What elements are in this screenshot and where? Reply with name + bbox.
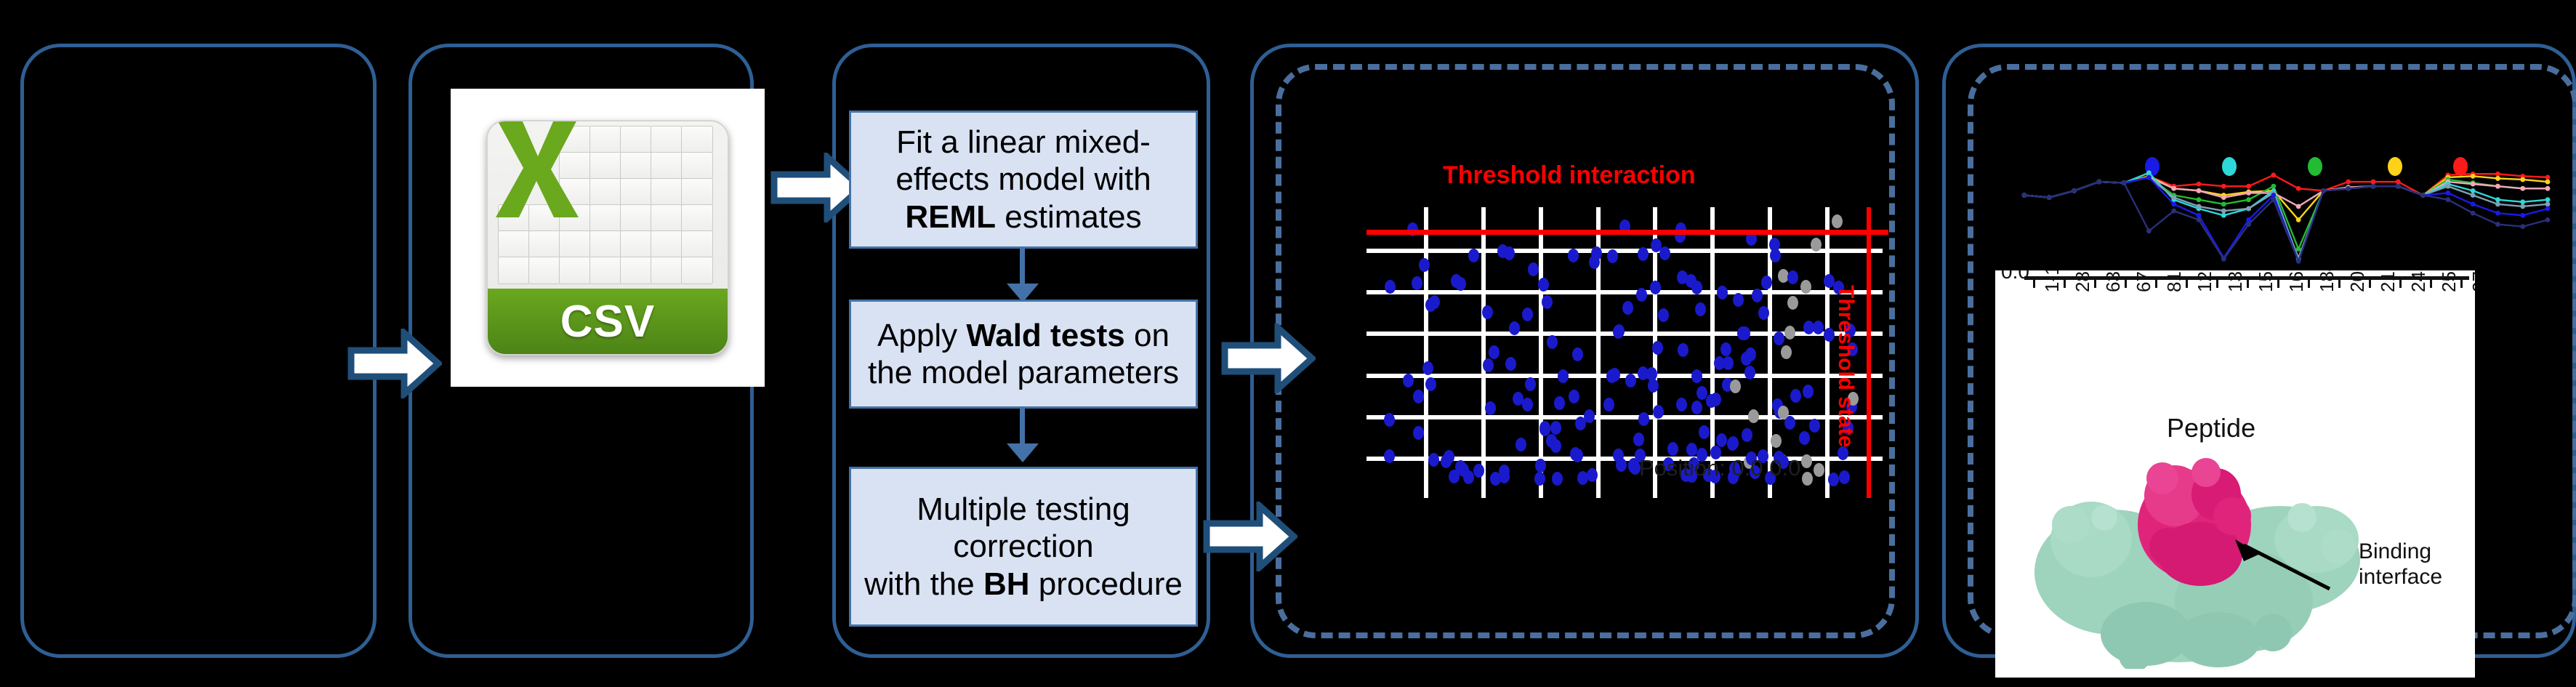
- peptide-series-marker: [2197, 204, 2202, 209]
- peptide-series-marker: [2471, 174, 2476, 179]
- bh-correction-box[interactable]: Multiple testing correction with the BH …: [849, 467, 1198, 627]
- peptide-series-marker: [2520, 186, 2525, 191]
- peptide-series-marker: [2545, 197, 2551, 202]
- scatter-point-significant: [1550, 421, 1561, 435]
- x-axis-tick: [2460, 276, 2463, 288]
- peptide-series-marker: [2171, 201, 2176, 206]
- scatter-point-significant: [1774, 332, 1784, 345]
- flow-arrow-1-icon: [347, 329, 442, 398]
- peptide-series-marker: [2246, 206, 2251, 212]
- scatter-point-significant: [1752, 289, 1763, 302]
- wald-line-2: the model parameters: [868, 354, 1179, 391]
- scatter-point-significant: [1558, 369, 1569, 383]
- scatter-point-nonsignificant: [1784, 326, 1795, 340]
- x-axis-tick: [2125, 276, 2127, 288]
- csv-grid-cell: [589, 178, 621, 206]
- csv-grid-cell: [651, 152, 683, 180]
- peptide-series-marker: [2146, 174, 2152, 180]
- x-axis-tick-label: 241-257: [2407, 270, 2430, 292]
- peptide-series-marker: [2545, 201, 2551, 206]
- x-axis-tick-label: 258-266: [2438, 270, 2460, 292]
- csv-grid-cell: [528, 257, 560, 284]
- scatter-point-nonsignificant: [1801, 454, 1812, 468]
- peptide-series-marker: [2296, 217, 2301, 222]
- scatter-point-significant: [1473, 464, 1484, 478]
- peptide-series-marker: [2495, 211, 2500, 216]
- scatter-point-nonsignificant: [1832, 214, 1843, 228]
- peptide-series-marker: [2545, 186, 2551, 191]
- scatter-point-nonsignificant: [1748, 409, 1759, 423]
- csv-grid-cell: [559, 257, 591, 284]
- scatter-point-significant: [1625, 374, 1636, 387]
- fit-model-text: Fit a linear mixed- effects model with R…: [895, 124, 1151, 235]
- scatter-point-significant: [1727, 437, 1738, 451]
- scatter-point-significant: [1504, 246, 1515, 260]
- peptide-series-marker: [2171, 195, 2176, 200]
- scatter-position-readout: Position: 0.0 0.0: [1639, 455, 1800, 481]
- scatter-point-significant: [1720, 342, 1731, 356]
- x-axis-tick-label: 277-284: [2468, 270, 2475, 292]
- x-axis-tick: [2064, 276, 2066, 288]
- flow-arrow-3-icon: [1203, 502, 1297, 571]
- peptide-series-marker: [2122, 180, 2127, 185]
- scatter-point-significant: [1528, 262, 1539, 276]
- csv-grid-cell: [651, 204, 683, 232]
- peptide-series-marker: [2396, 184, 2401, 189]
- threshold-interaction-label: Threshold interaction: [1443, 161, 1696, 190]
- workflow-diagram: CSV Fit a linear mixed- effects model wi…: [0, 0, 2576, 687]
- peptide-series-marker: [2072, 188, 2077, 193]
- scatter-point-significant: [1483, 358, 1494, 372]
- scatter-point-significant: [1591, 246, 1602, 260]
- peptide-series-marker: [2296, 259, 2301, 264]
- scatter-point-significant: [1384, 449, 1395, 463]
- bh-line-2: correction: [864, 528, 1183, 565]
- peptide-series-marker: [2495, 184, 2500, 189]
- scatter-point-significant: [1652, 341, 1663, 355]
- peptide-series-marker: [2520, 199, 2525, 204]
- peptide-series-marker: [2520, 213, 2525, 218]
- scatter-point-significant: [1499, 465, 1510, 478]
- x-axis-tick-label: 81-101: [2163, 270, 2186, 292]
- csv-grid-cell: [681, 178, 713, 206]
- scatter-point-significant: [1505, 357, 1516, 371]
- fit-model-line-2: effects model with: [895, 161, 1151, 198]
- csv-grid-cell: [620, 126, 652, 153]
- peptide-series-marker: [2445, 184, 2450, 189]
- excel-x-glyph: [492, 120, 581, 219]
- peptide-series-marker: [2047, 195, 2052, 200]
- scatter-point-significant: [1547, 335, 1558, 349]
- x-axis-tick-label: 122-129: [2194, 270, 2216, 292]
- scatter-point-significant: [1613, 325, 1624, 339]
- scatter-point-significant: [1809, 419, 1820, 433]
- csv-grid-cell: [620, 257, 652, 284]
- csv-grid-cell: [651, 178, 683, 206]
- scatter-point-significant: [1554, 396, 1565, 410]
- csv-grid-cell: [651, 126, 683, 153]
- flow-arrow-4-icon: [1221, 324, 1316, 393]
- scatter-point-significant: [1429, 295, 1440, 309]
- scatter-point-significant: [1384, 413, 1395, 427]
- peptide-series-marker: [2271, 197, 2276, 202]
- x-axis-tick: [2399, 276, 2402, 288]
- x-axis-tick: [2430, 276, 2432, 288]
- peptide-series-marker: [2520, 177, 2525, 182]
- scatter-point-nonsignificant: [1802, 472, 1813, 486]
- peptide-series-marker: [2197, 188, 2202, 193]
- peptide-series-marker: [2371, 184, 2376, 189]
- peptide-series-marker: [2346, 180, 2351, 185]
- protein-surface-structure: [2026, 438, 2367, 669]
- peptide-series-marker: [2495, 197, 2500, 202]
- csv-label: CSV: [560, 296, 655, 347]
- peptide-series-marker: [2246, 197, 2251, 202]
- x-axis-tick: [2216, 276, 2218, 288]
- scatter-point-significant: [1525, 377, 1536, 391]
- scatter-point-significant: [1803, 385, 1814, 398]
- x-axis-tick-label: 200-214: [2346, 270, 2369, 292]
- flow-connector-1: [1020, 249, 1025, 286]
- csv-grid-cell: [620, 178, 652, 206]
- scatter-point-nonsignificant: [1771, 434, 1782, 448]
- scatter-point-significant: [1609, 368, 1620, 382]
- scatter-point-significant: [1538, 278, 1549, 292]
- x-axis-tick-label: 67-75: [2133, 270, 2155, 292]
- scatter-point-nonsignificant: [1787, 296, 1798, 310]
- fit-model-box[interactable]: Fit a linear mixed- effects model with R…: [849, 111, 1198, 249]
- scatter-point-significant: [1622, 301, 1633, 315]
- peptide-series-marker: [2520, 224, 2525, 229]
- bh-prefix: with the: [864, 566, 983, 602]
- x-axis-tick-label: 1-15: [2041, 270, 2064, 292]
- peptide-series-marker: [2171, 209, 2176, 214]
- x-axis-tick-label: 63-73: [2102, 270, 2125, 292]
- scatter-point-significant: [1799, 431, 1810, 445]
- peptide-series-marker: [2197, 213, 2202, 218]
- peptide-series-series-green: [2024, 177, 2548, 249]
- wald-keyword: Wald tests: [966, 318, 1124, 353]
- csv-label-band: CSV: [488, 289, 728, 354]
- scatter-point-significant: [1653, 405, 1664, 419]
- scatter-point-significant: [1790, 389, 1801, 403]
- scatter-point-significant: [1717, 286, 1728, 300]
- wald-line-1: Apply Wald tests on: [868, 317, 1179, 354]
- csv-grid-cell: [589, 126, 621, 153]
- binding-line-1: Binding: [2359, 539, 2442, 565]
- csv-grid-cell: [681, 230, 713, 258]
- scatter-point-significant: [1419, 258, 1430, 272]
- fit-model-line-3: REML estimates: [895, 198, 1151, 236]
- peptide-series-marker: [2022, 193, 2027, 198]
- scatter-point-significant: [1568, 249, 1579, 262]
- input-panel: [20, 44, 377, 658]
- scatter-point-significant: [1737, 326, 1748, 340]
- scatter-point-significant: [1489, 345, 1500, 359]
- scatter-point-significant: [1828, 473, 1839, 486]
- wald-tests-text: Apply Wald tests on the model parameters: [868, 317, 1179, 391]
- scatter-point-significant: [1651, 238, 1662, 252]
- x-axis-tick: [2155, 276, 2157, 288]
- scatter-point-significant: [1584, 409, 1595, 423]
- flow-connector-2: [1020, 409, 1025, 446]
- peptide-series-marker: [2296, 186, 2301, 191]
- peptide-series-marker: [2146, 228, 2152, 233]
- bh-keyword: BH: [983, 566, 1030, 602]
- scatter-point-significant: [1676, 398, 1687, 411]
- csv-grid-cell: [620, 204, 652, 232]
- scatter-point-significant: [1569, 390, 1579, 403]
- csv-grid-cell: [589, 152, 621, 180]
- scatter-gridline-horizontal: [1367, 249, 1883, 253]
- csv-grid-cell: [620, 152, 652, 180]
- x-axis-tick: [2338, 276, 2340, 288]
- scatter-point-significant: [1468, 249, 1479, 262]
- wald-suffix: on: [1125, 318, 1170, 353]
- scatter-point-significant: [1577, 471, 1588, 485]
- peptide-series-marker: [2321, 188, 2326, 193]
- peptide-series-marker: [2271, 193, 2276, 198]
- x-axis-tick: [2277, 276, 2279, 288]
- x-axis-tick-label: 218-237: [2377, 270, 2399, 292]
- scatter-point-nonsignificant: [1778, 406, 1789, 419]
- peptide-series-marker: [2471, 188, 2476, 193]
- peptide-series-marker: [2221, 201, 2226, 206]
- scatter-point-significant: [1638, 412, 1649, 426]
- peptide-series-marker: [2221, 257, 2226, 262]
- peptide-series-marker: [2271, 172, 2276, 177]
- peptide-series-marker: [2471, 182, 2476, 187]
- csv-grid-cell: [681, 126, 713, 153]
- scatter-point-nonsignificant: [1814, 463, 1824, 477]
- peptide-series-marker: [2346, 186, 2351, 191]
- x-axis-tick: [2369, 276, 2371, 288]
- scatter-point-significant: [1451, 274, 1462, 288]
- peptide-series-marker: [2146, 170, 2152, 175]
- scatter-point-significant: [1425, 377, 1436, 391]
- x-axis-tick: [2033, 276, 2035, 288]
- peptide-series-marker: [2545, 174, 2551, 180]
- peptide-series-marker: [2445, 197, 2450, 202]
- peptide-series-marker: [2197, 197, 2202, 202]
- scatter-point-significant: [1534, 472, 1545, 486]
- peptide-series-marker: [2171, 186, 2176, 191]
- threshold-interaction-line: [1367, 230, 1888, 235]
- scatter-point-significant: [1613, 449, 1624, 462]
- peptide-series-marker: [2221, 213, 2226, 218]
- bh-line-3: with the BH procedure: [864, 566, 1183, 603]
- scatter-gridline-horizontal: [1367, 415, 1883, 419]
- scatter-point-significant: [1522, 308, 1533, 321]
- csv-grid-cell: [681, 204, 713, 232]
- csv-grid-cell: [681, 257, 713, 284]
- threshold-state-line: [1867, 207, 1871, 498]
- scatter-point-significant: [1650, 281, 1661, 294]
- csv-file-icon: CSV: [451, 89, 765, 387]
- scatter-point-significant: [1839, 470, 1850, 484]
- peptide-series-marker: [2246, 190, 2251, 196]
- scatter-point-significant: [1552, 472, 1563, 486]
- peptide-series-marker: [2221, 209, 2226, 214]
- scatter-point-significant: [1413, 426, 1424, 440]
- scatter-point-significant: [1603, 398, 1614, 411]
- peptide-series-marker: [2271, 184, 2276, 189]
- scatter-point-significant: [1658, 308, 1669, 322]
- scatter-point-significant: [1485, 401, 1496, 415]
- scatter-point-significant: [1633, 433, 1644, 446]
- scatter-point-significant: [1733, 293, 1744, 307]
- peptide-series-marker: [2197, 182, 2202, 187]
- scatter-point-significant: [1412, 276, 1422, 290]
- csv-grid-cell: [498, 230, 530, 258]
- scatter-point-significant: [1716, 433, 1727, 447]
- peptide-series-marker: [2471, 201, 2476, 206]
- volcano-scatter-plot: [1367, 207, 1883, 498]
- peptide-series-marker: [2296, 204, 2301, 209]
- wald-prefix: Apply: [877, 318, 966, 353]
- scatter-point-significant: [1803, 321, 1814, 334]
- scatter-point-significant: [1695, 302, 1706, 316]
- peptide-series-marker: [2495, 201, 2500, 206]
- peptide-series-marker: [2545, 206, 2551, 212]
- peptide-series-marker: [2471, 211, 2476, 216]
- binding-line-2: interface: [2359, 565, 2442, 590]
- peptide-series-marker: [2471, 193, 2476, 198]
- scatter-point-significant: [1428, 453, 1439, 467]
- x-axis-tick: [2094, 276, 2096, 288]
- csv-grid-cell: [589, 230, 621, 258]
- scatter-point-significant: [1667, 442, 1678, 456]
- scatter-point-significant: [1607, 249, 1618, 263]
- csv-grid-cell: [528, 230, 560, 258]
- scatter-point-significant: [1691, 369, 1702, 383]
- csv-grid-cell: [498, 257, 530, 284]
- peptide-series-marker: [2495, 222, 2500, 227]
- x-axis-tick-label: 135-144: [2224, 270, 2247, 292]
- peptide-series-marker: [2246, 222, 2251, 227]
- peptide-series-marker: [2221, 195, 2226, 200]
- binding-interface-annotation: Binding interface: [2359, 539, 2442, 590]
- peptide-series-marker: [2197, 217, 2202, 222]
- flow-arrowhead-2-icon: [1007, 443, 1039, 462]
- scatter-point-nonsignificant: [1730, 379, 1741, 393]
- peptide-series-marker: [2396, 180, 2401, 185]
- scatter-point-significant: [1787, 270, 1798, 284]
- scatter-point-significant: [1659, 246, 1670, 260]
- csv-grid-cell: [589, 204, 621, 232]
- csv-grid-cell: [589, 257, 621, 284]
- peptide-series-marker: [2445, 190, 2450, 196]
- peptide-series-marker: [2420, 193, 2426, 198]
- peptide-series-marker: [2246, 184, 2251, 189]
- peptide-series-marker: [2221, 184, 2226, 189]
- scatter-point-significant: [1745, 347, 1756, 361]
- scatter-point-significant: [1742, 428, 1752, 442]
- csv-grid-cell: [681, 152, 713, 180]
- scatter-point-significant: [1761, 276, 1772, 289]
- scatter-point-significant: [1686, 274, 1696, 288]
- scatter-point-significant: [1638, 247, 1649, 261]
- scatter-point-significant: [1813, 321, 1824, 334]
- csv-card: CSV: [486, 120, 729, 355]
- scatter-point-significant: [1542, 295, 1553, 309]
- wald-tests-box[interactable]: Apply Wald tests on the model parameters: [849, 300, 1198, 409]
- bh-suffix: procedure: [1030, 566, 1183, 602]
- csv-grid-cell: [559, 230, 591, 258]
- peptide-series-marker: [2545, 180, 2551, 185]
- scatter-point-significant: [1691, 401, 1702, 414]
- csv-grid-cell: [651, 257, 683, 284]
- x-axis-tick: [2308, 276, 2310, 288]
- scatter-point-significant: [1516, 438, 1526, 451]
- peptide-series-marker: [2495, 176, 2500, 181]
- scatter-point-significant: [1744, 366, 1755, 379]
- scatter-point-significant: [1482, 305, 1493, 319]
- x-axis-tick: [2186, 276, 2188, 288]
- peptide-series-marker: [2371, 180, 2376, 185]
- peptide-line-chart: [2003, 145, 2555, 269]
- x-axis-tick-label: 167-180: [2285, 270, 2308, 292]
- x-axis-tick-label: 158-166: [2255, 270, 2277, 292]
- threshold-state-label: Threshold state: [1833, 285, 1858, 447]
- bh-line-1: Multiple testing: [864, 491, 1183, 528]
- x-axis-tick-label: 184-199: [2316, 270, 2338, 292]
- scatter-gridline-horizontal: [1367, 374, 1883, 378]
- scatter-point-significant: [1535, 459, 1546, 473]
- scatter-point-significant: [1628, 458, 1639, 472]
- peptide-series-marker: [2096, 180, 2101, 185]
- peptide-series-marker: [2296, 246, 2301, 252]
- csv-grid-cell: [620, 230, 652, 258]
- fit-model-line-1: Fit a linear mixed-: [895, 124, 1151, 161]
- scatter-point-significant: [1706, 394, 1717, 408]
- x-axis-tick: [2247, 276, 2249, 288]
- structure-card: 0.0 1-1528-4463-7367-7581-101122-129135-…: [1995, 270, 2475, 678]
- scatter-point-significant: [1636, 288, 1647, 302]
- scatter-point-significant: [1403, 374, 1414, 387]
- scatter-point-significant: [1413, 390, 1424, 403]
- peptide-series-marker: [2495, 172, 2500, 177]
- scatter-point-significant: [1648, 379, 1659, 393]
- peptide-series-marker: [2520, 204, 2525, 209]
- csv-grid-cell: [651, 230, 683, 258]
- scatter-point-significant: [1522, 398, 1533, 411]
- peptide-series-marker: [2545, 217, 2551, 222]
- scatter-point-significant: [1572, 347, 1583, 361]
- x-axis-tick-label: 28-44: [2072, 270, 2094, 292]
- reml-suffix: estimates: [996, 199, 1142, 235]
- scatter-point-nonsignificant: [1781, 345, 1792, 359]
- bh-correction-text: Multiple testing correction with the BH …: [864, 491, 1183, 602]
- scatter-point-significant: [1714, 356, 1725, 370]
- scatter-point-significant: [1678, 343, 1689, 357]
- scatter-point-significant: [1441, 454, 1452, 468]
- scatter-point-significant: [1699, 425, 1710, 439]
- reml-keyword: REML: [905, 199, 996, 235]
